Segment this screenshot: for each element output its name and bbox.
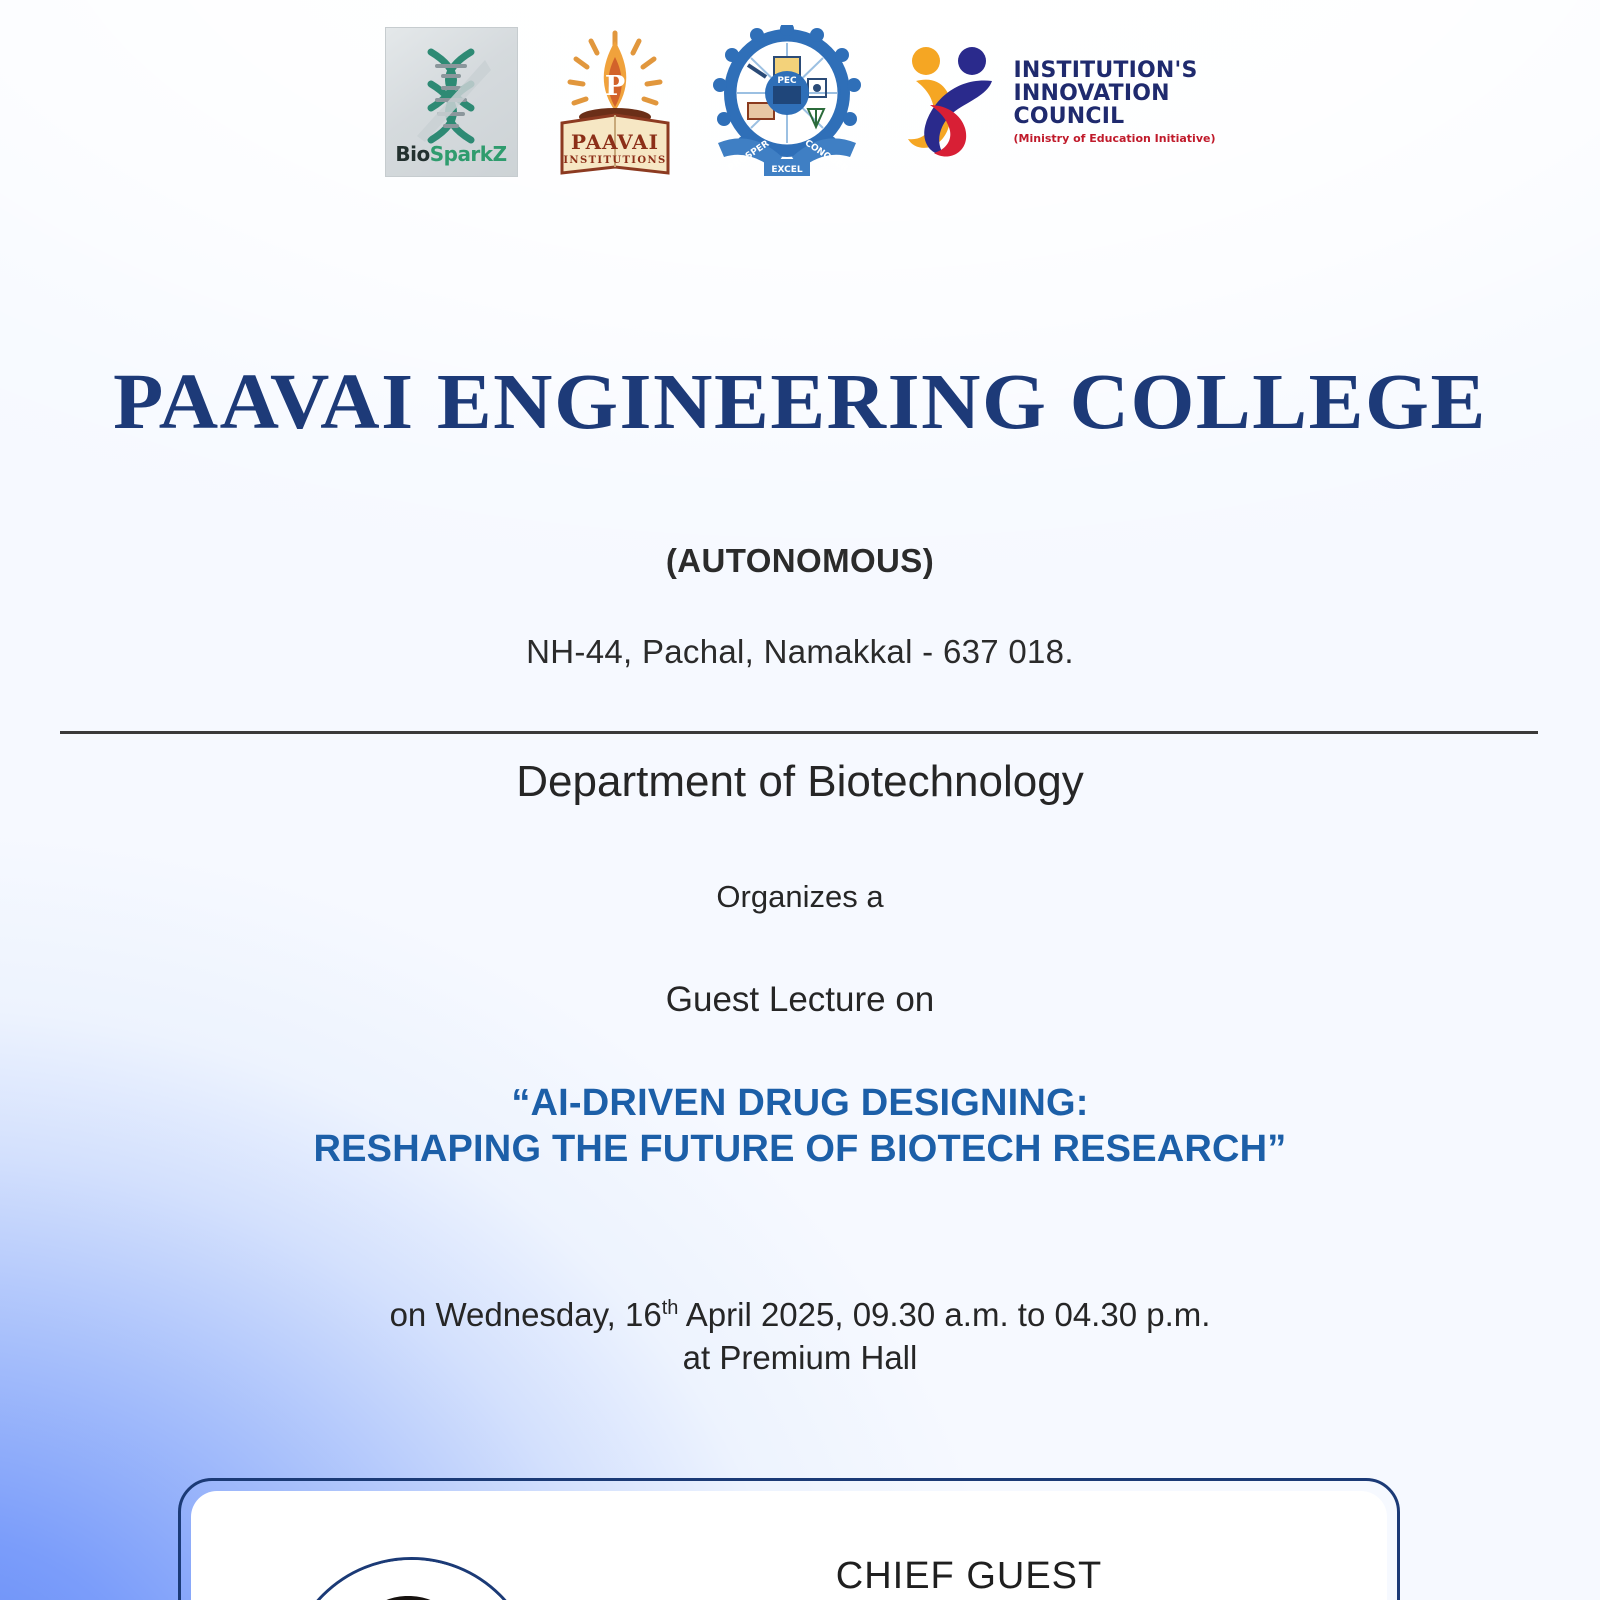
chief-guest-info: CHIEF GUEST Dr.A. RONALDO ANUF Director-…: [631, 1555, 1387, 1600]
poster-canvas: BioSparkZ P: [0, 0, 1600, 1600]
organizes-label: Organizes a: [0, 879, 1600, 915]
biosparkz-logo: BioSparkZ: [385, 27, 518, 177]
header-divider: [60, 731, 1538, 734]
college-name: PAAVAI ENGINEERING COLLEGE: [0, 358, 1600, 448]
event-date-line: on Wednesday, 16th April 2025, 09.30 a.m…: [0, 1293, 1600, 1337]
paavai-wordmark: PAAVAI: [570, 130, 658, 154]
college-address: NH-44, Pachal, Namakkal - 637 018.: [0, 633, 1600, 671]
gear-emblem-icon: PEC PROSPER EXCEL CONQUER: [712, 25, 862, 180]
event-datetime: on Wednesday, 16th April 2025, 09.30 a.m…: [0, 1293, 1600, 1380]
portrait-photo-icon: [288, 1560, 529, 1600]
pec-center-label: PEC: [777, 76, 797, 86]
paavai-monogram: P: [604, 71, 624, 102]
institutions-innovation-council-logo: INSTITUTION'S INNOVATION COUNCIL (Minist…: [900, 42, 1216, 162]
chief-guest-avatar: [285, 1557, 538, 1600]
department-name: Department of Biotechnology: [0, 757, 1600, 807]
lecture-topic: “AI-DRIVEN DRUG DESIGNING: RESHAPING THE…: [0, 1080, 1600, 1173]
chief-guest-card: CHIEF GUEST Dr.A. RONALDO ANUF Director-…: [178, 1478, 1400, 1600]
event-date-ordinal: th: [662, 1297, 679, 1319]
event-time-suffix: April 2025, 09.30 a.m. to 04.30 p.m.: [678, 1296, 1210, 1333]
paavai-subword: INSTITUTIONS: [563, 155, 666, 166]
event-date-prefix: on Wednesday, 16: [390, 1296, 662, 1333]
paavai-lamp-icon: P PAAVAI INSTITUTIONS: [556, 27, 674, 177]
pec-ribbon-center: EXCEL: [771, 165, 803, 175]
iic-wordmark: INSTITUTION'S INNOVATION COUNCIL (Minist…: [1014, 59, 1216, 145]
dna-helix-icon: [399, 44, 503, 148]
iic-mark-icon: [900, 43, 1004, 161]
chief-guest-label: CHIEF GUEST: [631, 1555, 1307, 1598]
iic-line-1: INSTITUTION'S: [1014, 59, 1216, 82]
portrait-container: [191, 1557, 631, 1600]
paavai-engineering-college-emblem: PEC PROSPER EXCEL CONQUER: [712, 25, 862, 180]
lecture-topic-line-1: “AI-DRIVEN DRUG DESIGNING:: [0, 1080, 1600, 1126]
lecture-topic-line-2: RESHAPING THE FUTURE OF BIOTECH RESEARCH…: [0, 1126, 1600, 1172]
iic-ministry-note: (Ministry of Education Initiative): [1014, 133, 1216, 145]
logo-row: BioSparkZ P: [0, 22, 1600, 182]
autonomous-label: (AUTONOMOUS): [0, 542, 1600, 580]
event-type-label: Guest Lecture on: [0, 980, 1600, 1020]
iic-line-3: COUNCIL: [1014, 105, 1216, 128]
chief-guest-card-inner: CHIEF GUEST Dr.A. RONALDO ANUF Director-…: [191, 1491, 1387, 1600]
event-venue: at Premium Hall: [0, 1336, 1600, 1380]
paavai-institutions-logo: P PAAVAI INSTITUTIONS: [556, 27, 674, 177]
iic-line-2: INNOVATION: [1014, 82, 1216, 105]
